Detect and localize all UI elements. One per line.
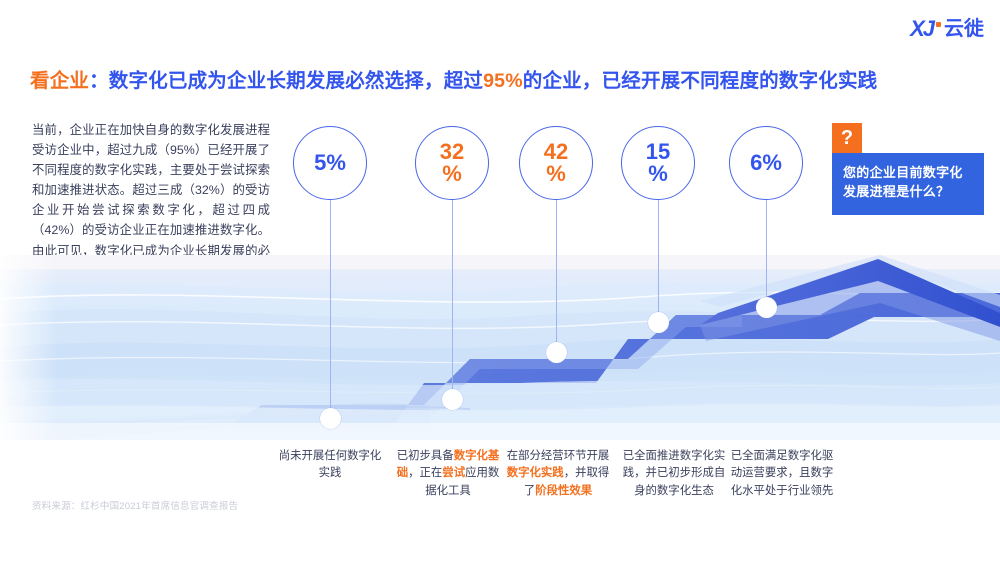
logo-wordmark: 云徙: [944, 19, 984, 39]
percent-circle-5[interactable]: 6%: [729, 126, 803, 200]
logo-mark-icon: XJ: [910, 18, 933, 40]
percent-value-4: 15 %: [646, 141, 670, 186]
slide-canvas: XJ 云徙 看企业：数字化已成为企业长期发展必然选择，超过95%的企业，已经开展…: [0, 0, 1000, 563]
question-callout: ? 您的企业目前数字化发展进程是什么？: [832, 123, 984, 215]
step-label-5-part-1: 已全面满足数字化驱动运营要求，且数字化水平处于行业领先: [731, 450, 834, 497]
title-lead: 看企业: [30, 70, 89, 92]
step-label-4-part-1: 已全面推进数字化实践，并已初步形成自身的数字化生态: [623, 450, 726, 497]
brand-logo: XJ 云徙: [910, 18, 984, 40]
source-note: 资料来源：红杉中国2021年首席信息官调查报告: [32, 498, 238, 512]
percent-value-2: 32 %: [440, 141, 464, 186]
percent-circle-2[interactable]: 32 %: [415, 126, 489, 200]
percent-circle-4[interactable]: 15 %: [621, 126, 695, 200]
step-label-4: 已全面推进数字化实践，并已初步形成自身的数字化生态: [622, 448, 726, 500]
step-label-3-part-1: 在部分经营环节开展: [507, 450, 610, 462]
percent-value-5: 6%: [750, 152, 782, 174]
step-label-5: 已全面满足数字化驱动运营要求，且数字化水平处于行业领先: [730, 448, 834, 500]
step-label-2-part-3: ，正在: [408, 467, 442, 479]
callout-question-text: 您的企业目前数字化发展进程是什么？: [832, 153, 984, 215]
step-label-2-part-1: 已初步具备: [397, 450, 454, 462]
page-title: 看企业：数字化已成为企业长期发展必然选择，超过95%的企业，已经开展不同程度的数…: [30, 64, 877, 93]
step-label-1-part-1: 尚未开展任何数: [279, 450, 359, 462]
step-label-3-part-4: 阶段性效果: [535, 485, 592, 497]
percent-value-1: 5%: [314, 152, 346, 174]
percent-circle-1[interactable]: 5%: [293, 126, 367, 200]
title-rest-a: ：数字化已成为企业长期发展必然选择，超过: [89, 70, 483, 92]
title-highlight: 95%: [483, 70, 523, 92]
step-label-2: 已初步具备数字化基础，正在尝试应用数据化工具: [396, 448, 500, 500]
staircase-artwork: [0, 255, 1000, 440]
step-label-1: 尚未开展任何数字化实践: [278, 448, 382, 483]
step-label-2-part-4: 尝试: [442, 467, 465, 479]
title-rest-b: 的企业，已经开展不同程度的数字化实践: [523, 70, 878, 92]
percent-circle-3[interactable]: 42 %: [519, 126, 593, 200]
step-label-3: 在部分经营环节开展数字化实践，并取得了阶段性效果: [506, 448, 610, 500]
step-label-3-part-2: 数字化实践: [507, 467, 564, 479]
question-mark-icon: ?: [832, 123, 862, 153]
logo-accent-dot-icon: [936, 22, 941, 27]
percent-value-3: 42 %: [544, 141, 568, 186]
